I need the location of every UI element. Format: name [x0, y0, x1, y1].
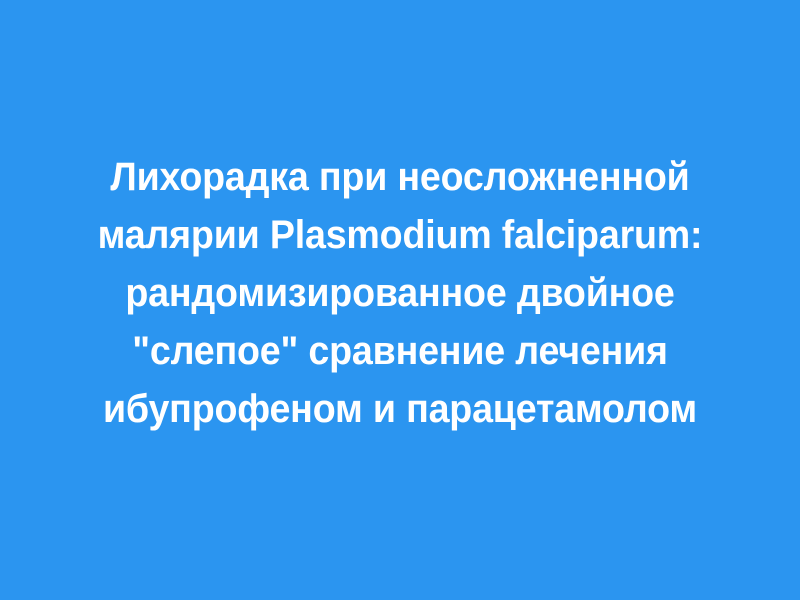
title-line-1: Лихорадка при неосложненной — [69, 148, 731, 206]
page-title: Лихорадка при неосложненной малярии Plas… — [0, 148, 800, 438]
title-card: Лихорадка при неосложненной малярии Plas… — [0, 0, 800, 600]
title-line-3: рандомизированное двойное — [69, 264, 731, 322]
title-line-5: ибупрофеном и парацетамолом — [69, 380, 731, 438]
title-line-4: "слепое" сравнение лечения — [69, 322, 731, 380]
title-line-2: малярии Plasmodium falciparum: — [69, 206, 731, 264]
